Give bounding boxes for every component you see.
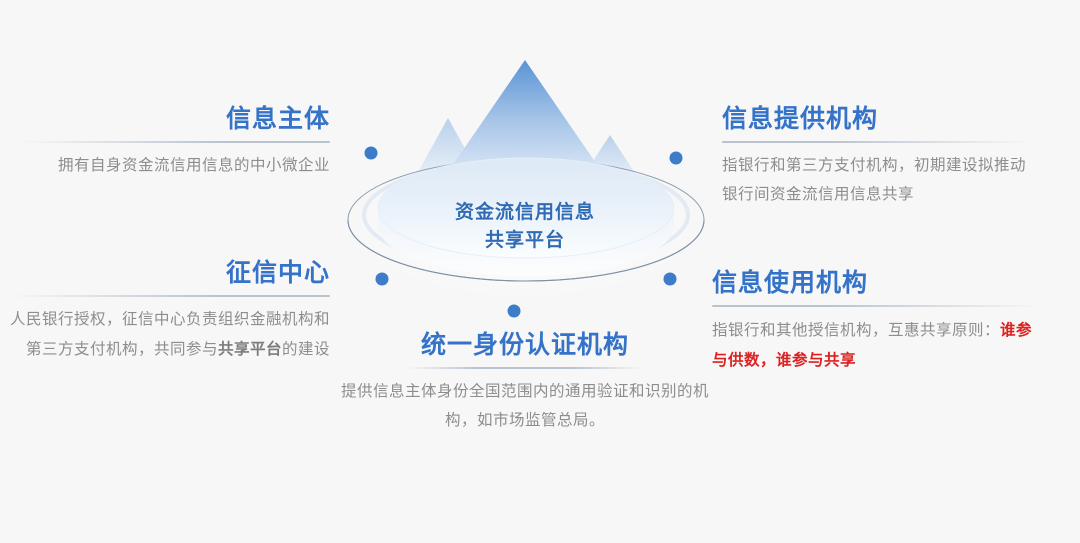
title-underline — [10, 295, 330, 297]
credit-body-strong: 共享平台 — [218, 339, 282, 358]
block-identity-authority: 统一身份认证机构 提供信息主体身份全国范围内的通用验证和识别的机构，如市场监管总… — [330, 330, 720, 435]
diagram-canvas: 资金流信用信息 共享平台 信息主体 拥有自身资金流信用信息的中小微企业 征信中心… — [0, 0, 1080, 543]
orbit-node-top-left — [365, 147, 378, 160]
block-title-information-user: 信息使用机构 — [712, 268, 1042, 298]
title-underline — [712, 305, 1042, 307]
block-credit-center: 征信中心 人民银行授权，征信中心负责组织金融机构和第三方支付机构，共同参与共享平… — [10, 258, 330, 364]
user-body-pre: 指银行和其他授信机构，互惠共享原则： — [712, 321, 1000, 339]
block-body-information-user: 指银行和其他授信机构，互惠共享原则：谁参与供数，谁参与共享 — [712, 315, 1042, 375]
central-platform-graphic: 资金流信用信息 共享平台 — [330, 30, 720, 340]
platform-illustration — [330, 30, 720, 340]
block-information-provider: 信息提供机构 指银行和第三方支付机构，初期建设拟推动银行间资金流信用信息共享 — [722, 104, 1030, 209]
platform-label: 资金流信用信息 共享平台 — [330, 198, 720, 254]
title-underline — [20, 141, 330, 143]
block-title-information-provider: 信息提供机构 — [722, 104, 1030, 134]
block-body-identity-authority: 提供信息主体身份全国范围内的通用验证和识别的机构，如市场监管总局。 — [330, 377, 720, 435]
block-information-subject: 信息主体 拥有自身资金流信用信息的中小微企业 — [20, 104, 330, 180]
block-information-user: 信息使用机构 指银行和其他授信机构，互惠共享原则：谁参与供数，谁参与共享 — [712, 268, 1042, 375]
title-underline — [722, 141, 1030, 143]
orbit-node-bottom-right — [664, 273, 677, 286]
orbit-node-top-right — [670, 152, 683, 165]
orbit-node-bottom-center — [508, 305, 521, 318]
block-body-information-subject: 拥有自身资金流信用信息的中小微企业 — [20, 151, 330, 180]
block-body-credit-center: 人民银行授权，征信中心负责组织金融机构和第三方支付机构，共同参与共享平台的建设 — [10, 305, 330, 364]
block-title-information-subject: 信息主体 — [20, 104, 330, 134]
credit-body-post: 的建设 — [282, 340, 330, 358]
block-body-information-provider: 指银行和第三方支付机构，初期建设拟推动银行间资金流信用信息共享 — [722, 151, 1030, 209]
orbit-node-bottom-left — [376, 273, 389, 286]
block-title-identity-authority: 统一身份认证机构 — [330, 330, 720, 360]
title-underline — [407, 367, 643, 369]
block-title-credit-center: 征信中心 — [10, 258, 330, 288]
